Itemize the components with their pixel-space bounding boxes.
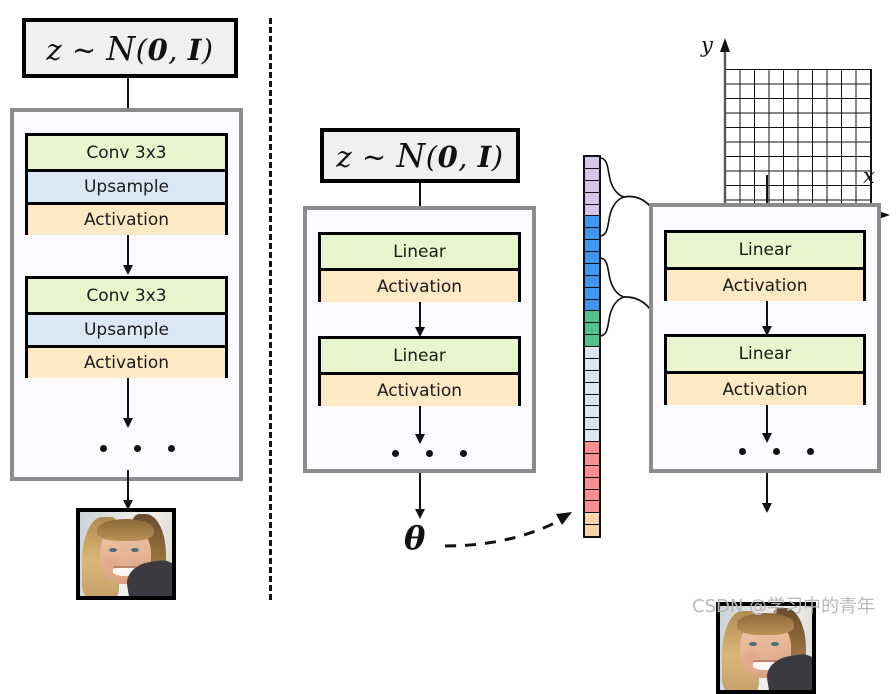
right-ellipsis <box>739 448 814 455</box>
right-block-2: Linear Activation <box>664 334 866 405</box>
layer-activation: Activation <box>667 371 863 405</box>
right-block-1: Linear Activation <box>664 230 866 301</box>
arrow-right-block2-to-ellipsis <box>766 405 768 443</box>
axis-label-y: y <box>701 33 713 57</box>
layer-linear: Linear <box>667 233 863 267</box>
arrow-right-block1-to-block2 <box>766 301 768 336</box>
watermark: CSDN @学习中的青年 <box>692 592 875 618</box>
layer-linear: Linear <box>667 337 863 371</box>
layer-activation: Activation <box>667 267 863 301</box>
arrow-right-panel-to-output <box>766 473 768 513</box>
axis-label-x: x <box>863 164 875 188</box>
